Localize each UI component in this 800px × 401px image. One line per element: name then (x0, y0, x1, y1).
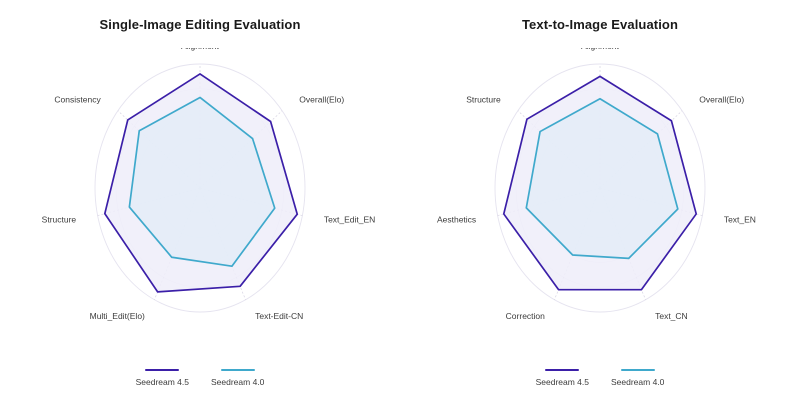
axis-label: Structure (466, 94, 501, 104)
radar-svg: AlignmentOverall(Elo)Text_ENText_CNCorre… (400, 48, 800, 328)
legend-swatch-seedream-45 (545, 369, 579, 372)
legend-item-seedream-40: Seedream 4.0 (611, 369, 664, 388)
radar-plot-right: AlignmentOverall(Elo)Text_ENText_CNCorre… (400, 48, 800, 328)
axis-label: Alignment (581, 48, 619, 51)
axis-label: Aesthetics (437, 215, 476, 225)
chart-title-right: Text-to-Image Evaluation (400, 17, 800, 32)
legend-label-seedream-45: Seedream 4.5 (536, 377, 589, 387)
legend-item-seedream-45: Seedream 4.5 (136, 369, 189, 388)
axis-label: Text-Edit-CN (255, 311, 303, 321)
axis-label: Text_Edit_EN (324, 215, 376, 225)
radar-plot-left: AlignmentOverall(Elo)Text_Edit_ENText-Ed… (0, 48, 400, 328)
axis-label: Overall(Elo) (299, 94, 344, 104)
legend-swatch-seedream-40 (221, 369, 255, 372)
legend-item-seedream-40: Seedream 4.0 (211, 369, 264, 388)
axis-label: Overall(Elo) (699, 94, 744, 104)
legend-swatch-seedream-45 (145, 369, 179, 372)
legend-swatch-seedream-40 (621, 369, 655, 372)
axis-label: Structure (42, 215, 77, 225)
axis-label: Multi_Edit(Elo) (90, 311, 145, 321)
legend-left: Seedream 4.5 Seedream 4.0 (0, 369, 400, 388)
panel-text-to-image: Text-to-Image Evaluation AlignmentOveral… (400, 0, 800, 401)
axis-label: Correction (506, 311, 545, 321)
axis-label: Text_CN (655, 311, 688, 321)
legend-item-seedream-45: Seedream 4.5 (536, 369, 589, 388)
radar-chart-board: Single-Image Editing Evaluation Alignmen… (0, 0, 800, 401)
legend-label-seedream-40: Seedream 4.0 (611, 377, 664, 387)
legend-right: Seedream 4.5 Seedream 4.0 (400, 369, 800, 388)
axis-label: Text_EN (724, 215, 756, 225)
axis-label: Consistency (54, 94, 101, 104)
radar-svg: AlignmentOverall(Elo)Text_Edit_ENText-Ed… (0, 48, 400, 328)
panel-single-image-editing: Single-Image Editing Evaluation Alignmen… (0, 0, 400, 401)
chart-title-left: Single-Image Editing Evaluation (0, 17, 400, 32)
axis-label: Alignment (181, 48, 219, 51)
legend-label-seedream-40: Seedream 4.0 (211, 377, 264, 387)
legend-label-seedream-45: Seedream 4.5 (136, 377, 189, 387)
